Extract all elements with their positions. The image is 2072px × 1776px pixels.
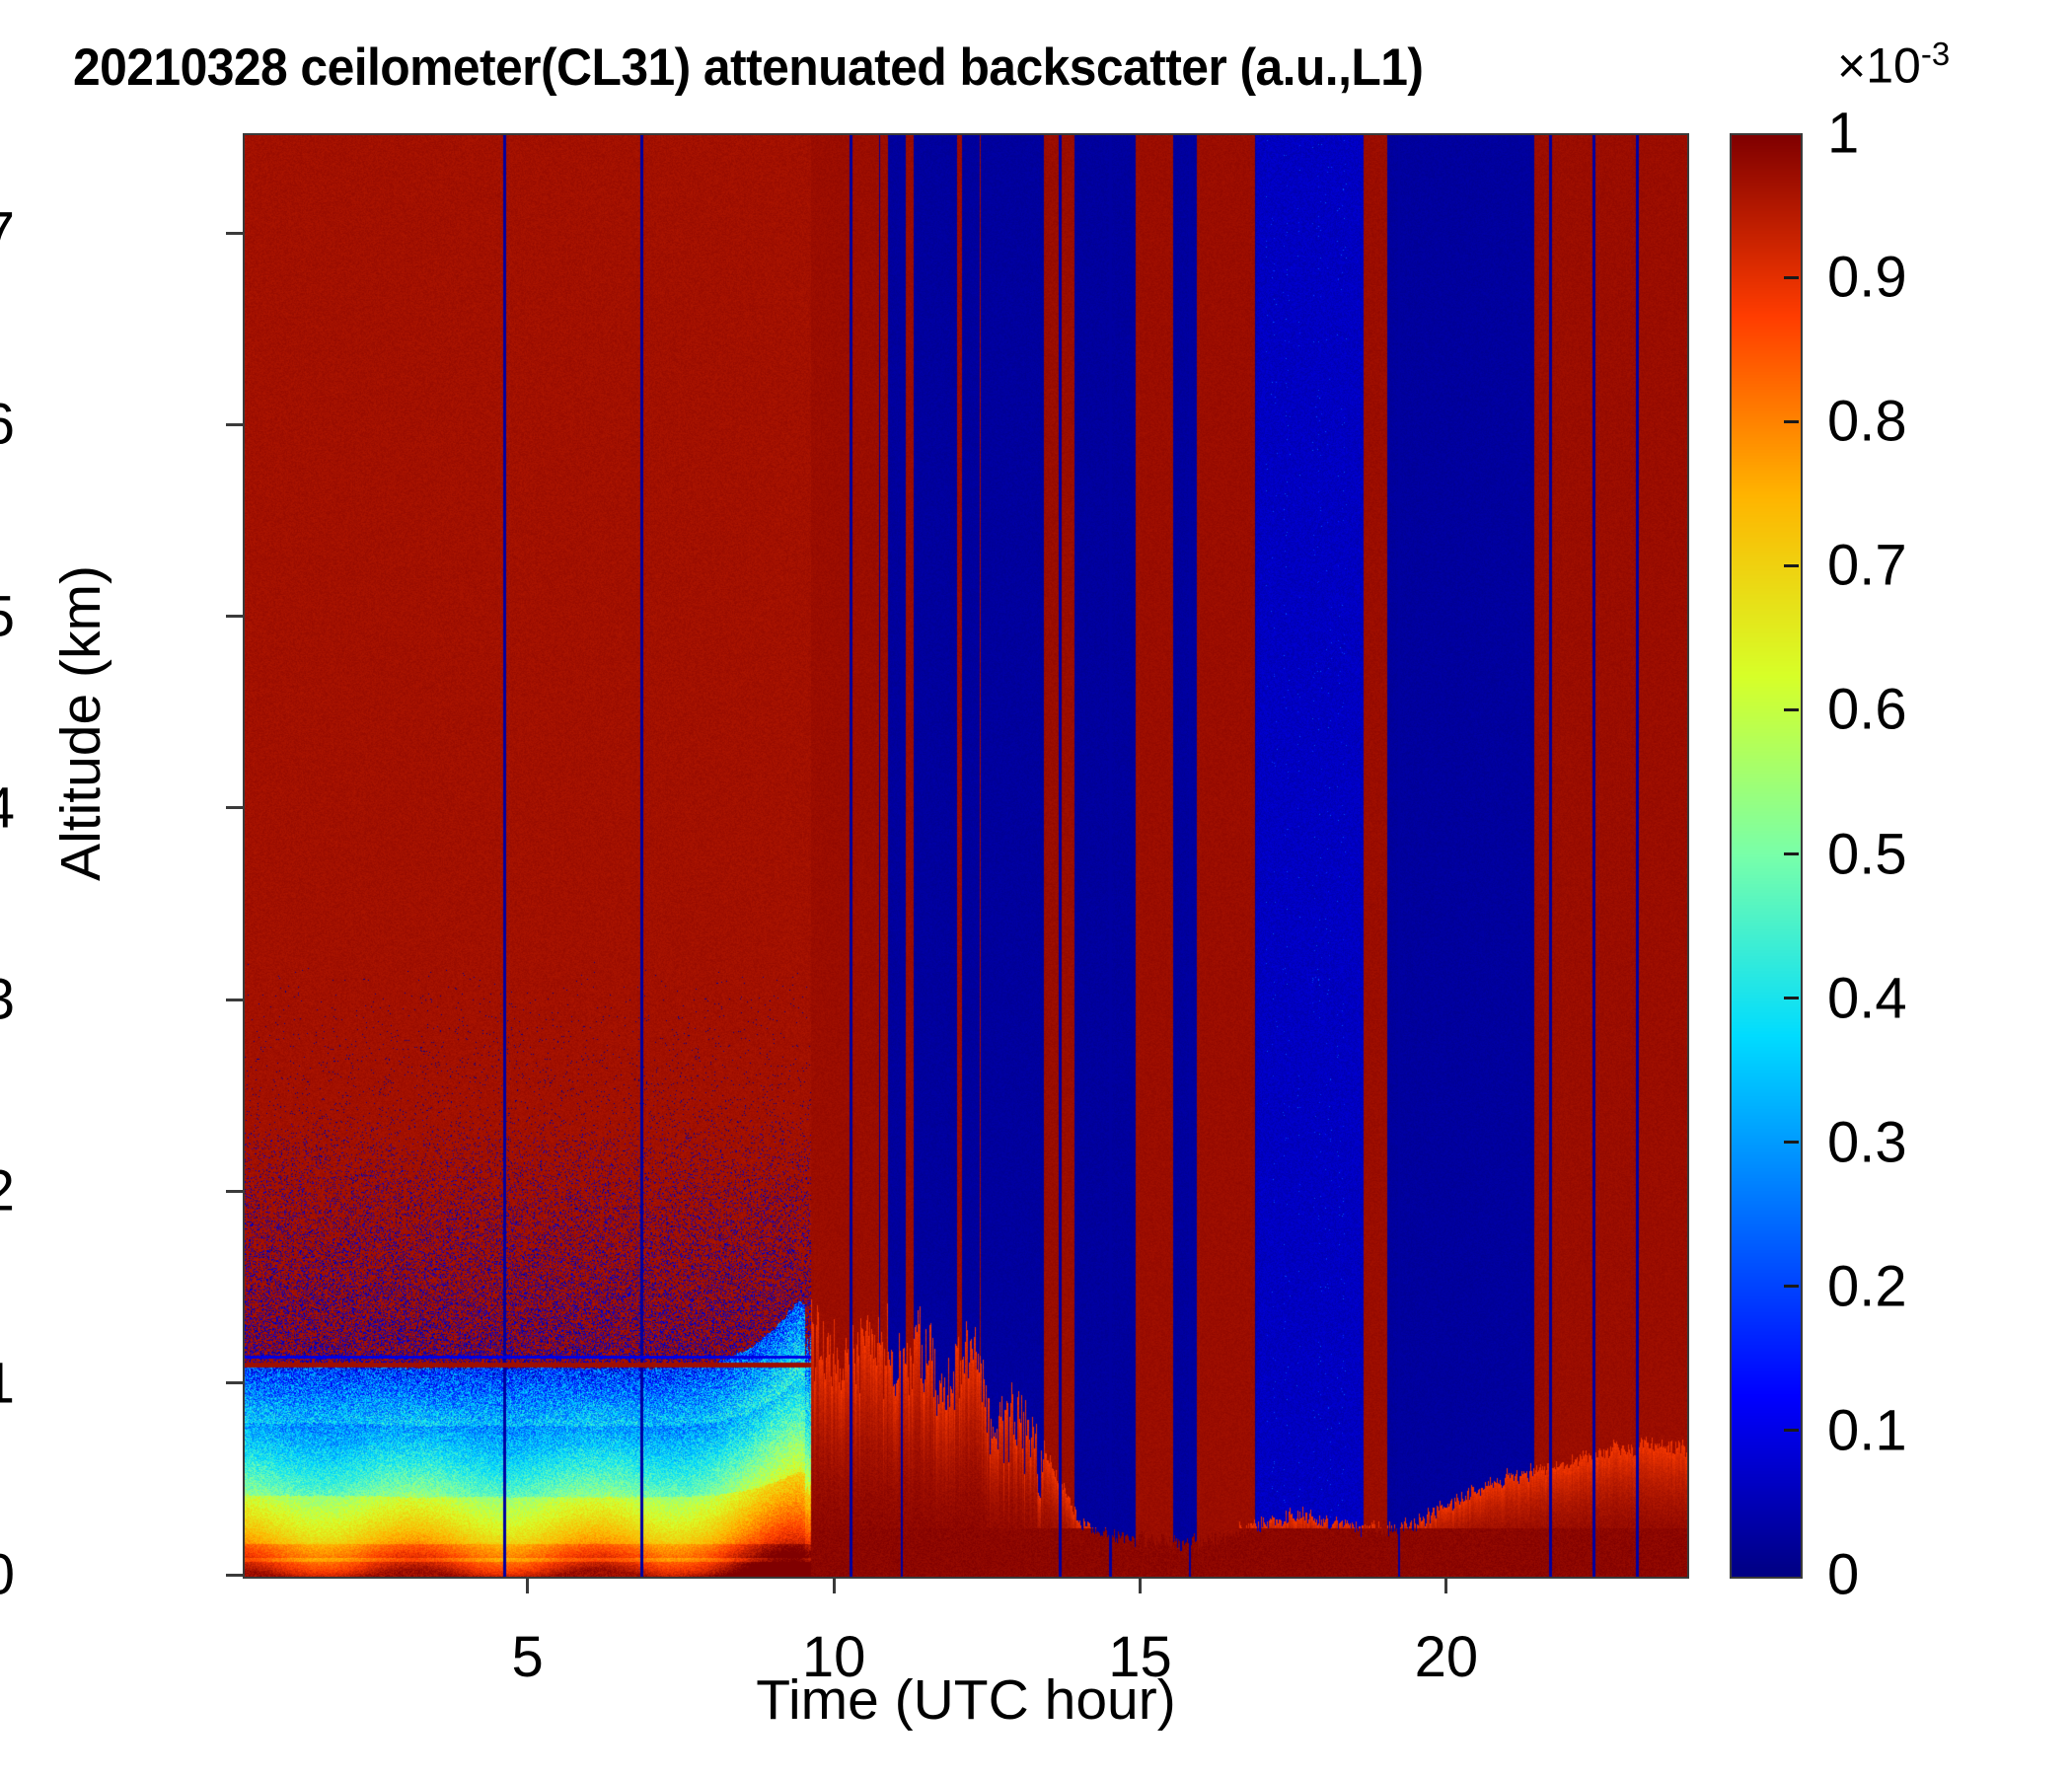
y-tick-label: 3	[0, 967, 15, 1033]
y-tick-label: 1	[0, 1350, 15, 1416]
colorbar-tick-label: 0.7	[1827, 533, 1907, 599]
colorbar-tick-mark	[1784, 564, 1799, 567]
colorbar-tick-label: 0.9	[1827, 245, 1907, 311]
y-tick-mark	[226, 806, 243, 809]
y-tick-label: 7	[0, 200, 15, 266]
y-tick-mark	[226, 1190, 243, 1193]
colorbar	[1730, 133, 1803, 1579]
colorbar-tick-mark	[1784, 1141, 1799, 1144]
colorbar-tick-label: 0.2	[1827, 1253, 1907, 1319]
heatmap-plot-area	[243, 133, 1689, 1579]
colorbar-gradient-canvas	[1732, 135, 1801, 1577]
y-tick-mark	[226, 232, 243, 235]
colorbar-tick-label: 1	[1827, 101, 1859, 167]
colorbar-tick-label: 0.8	[1827, 389, 1907, 455]
colorbar-tick-label: 0.6	[1827, 677, 1907, 743]
colorbar-tick-label: 0	[1827, 1542, 1859, 1608]
x-tick-mark	[1139, 1577, 1142, 1593]
y-tick-mark	[226, 615, 243, 618]
y-tick-label: 2	[0, 1158, 15, 1224]
colorbar-exponent-label: ×10-3	[1837, 36, 1950, 95]
colorbar-tick-label: 0.3	[1827, 1109, 1907, 1175]
y-tick-mark	[226, 1574, 243, 1577]
x-tick-mark	[526, 1577, 529, 1593]
y-tick-mark	[226, 423, 243, 426]
colorbar-tick-mark	[1784, 1285, 1799, 1288]
colorbar-tick-mark	[1784, 708, 1799, 711]
x-axis-title: Time (UTC hour)	[243, 1667, 1689, 1733]
colorbar-tick-mark	[1784, 997, 1799, 999]
x-tick-mark	[833, 1577, 836, 1593]
colorbar-tick-label: 0.5	[1827, 821, 1907, 887]
y-tick-label: 5	[0, 583, 15, 649]
ceilometer-backscatter-figure: 20210328 ceilometer(CL31) attenuated bac…	[0, 0, 2072, 1776]
colorbar-tick-label: 0.1	[1827, 1397, 1907, 1463]
y-axis-title: Altitude (km)	[48, 407, 113, 1039]
x-tick-mark	[1444, 1577, 1447, 1593]
y-tick-mark	[226, 1381, 243, 1384]
colorbar-tick-mark	[1784, 1429, 1799, 1432]
chart-title: 20210328 ceilometer(CL31) attenuated bac…	[73, 37, 1423, 98]
y-tick-label: 6	[0, 392, 15, 458]
backscatter-heatmap-canvas	[245, 135, 1687, 1577]
y-tick-mark	[226, 999, 243, 1001]
colorbar-tick-mark	[1784, 852, 1799, 855]
colorbar-tick-mark	[1784, 420, 1799, 423]
colorbar-tick-label: 0.4	[1827, 965, 1907, 1031]
y-tick-label: 0	[0, 1542, 15, 1608]
y-tick-label: 4	[0, 775, 15, 841]
colorbar-tick-mark	[1784, 276, 1799, 279]
